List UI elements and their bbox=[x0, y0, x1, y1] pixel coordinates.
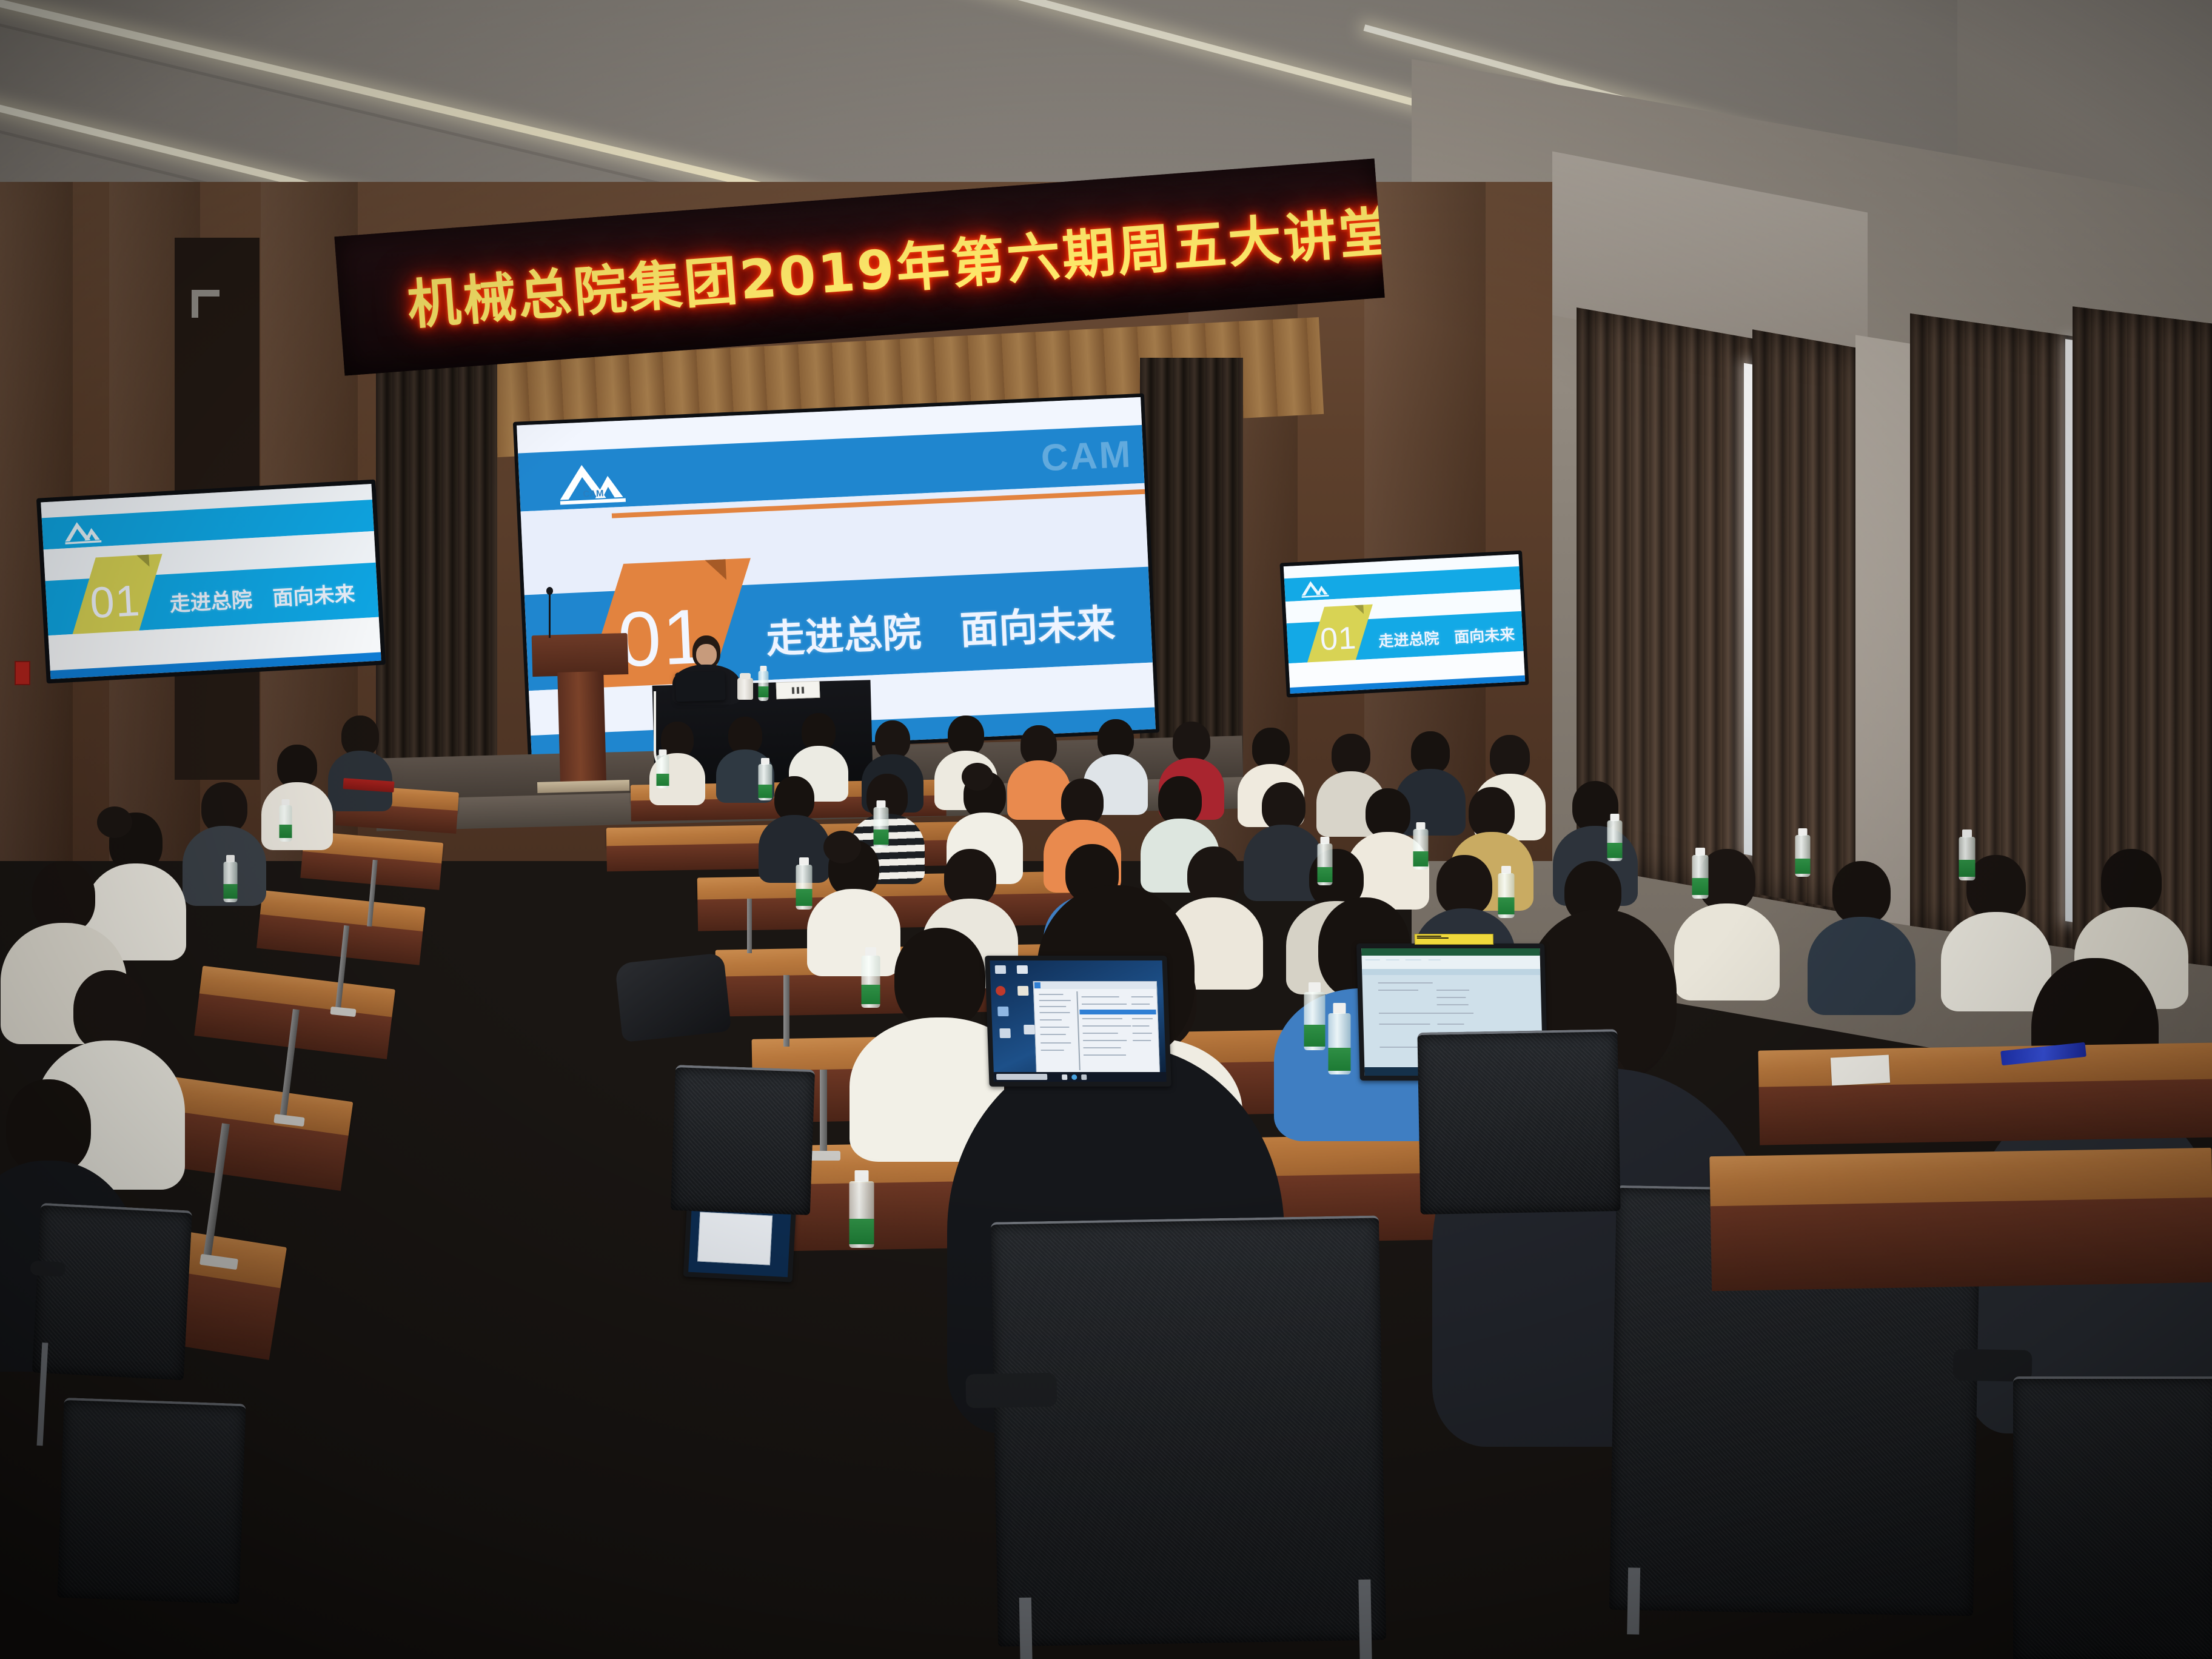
chair[interactable] bbox=[1417, 1029, 1620, 1215]
water-bottle bbox=[279, 799, 292, 842]
desk bbox=[1758, 1042, 2212, 1090]
water-bottle bbox=[1795, 828, 1811, 877]
paper-sheet bbox=[1831, 1055, 1890, 1086]
chair bbox=[57, 1398, 246, 1604]
water-bottle bbox=[1304, 982, 1326, 1050]
presenter-nameplate bbox=[776, 681, 820, 699]
cam-logo-icon bbox=[61, 517, 106, 546]
left-wall-monitor: 01 走进总院 面向未来 bbox=[41, 484, 381, 679]
thermos-cup bbox=[737, 678, 753, 700]
water-bottle bbox=[1413, 822, 1429, 870]
laptop-file-explorer[interactable] bbox=[985, 956, 1171, 1087]
slide-number: 01 bbox=[1319, 620, 1358, 658]
wall-pillar bbox=[1855, 335, 1914, 926]
water-bottle bbox=[873, 800, 889, 848]
chair bbox=[32, 1203, 192, 1381]
water-bottle bbox=[861, 947, 880, 1008]
laptop-security-sticker bbox=[1415, 934, 1494, 945]
water-bottle bbox=[1328, 1003, 1351, 1074]
audience-member bbox=[327, 716, 393, 806]
desk bbox=[260, 890, 425, 934]
water-bottle bbox=[1692, 848, 1709, 899]
fire-alarm-icon bbox=[15, 661, 30, 685]
water-bottle bbox=[1498, 866, 1515, 918]
water-bottle bbox=[223, 855, 238, 902]
wall-accent-panel bbox=[175, 238, 260, 492]
desk-leg bbox=[747, 899, 752, 953]
right-monitor-bezel: 01 走进总院 面向未来 bbox=[1279, 551, 1529, 698]
water-bottle bbox=[796, 857, 813, 910]
audience-member bbox=[1807, 861, 1916, 1014]
podium bbox=[532, 633, 632, 793]
water-bottle bbox=[1959, 829, 1976, 880]
water-bottle bbox=[1607, 814, 1623, 861]
water-bottle bbox=[849, 1170, 874, 1248]
lecture-hall-photo: 机械总院集团2019年第六期周五大讲堂 CAM CAM 01 走进总院 面向未来 bbox=[0, 0, 2212, 1659]
stage-curtain-left bbox=[376, 364, 497, 788]
chair[interactable] bbox=[671, 1065, 815, 1215]
right-wall-monitor: 01 走进总院 面向未来 bbox=[1284, 554, 1525, 694]
svg-text:CAM: CAM bbox=[583, 488, 604, 500]
desk-foreground bbox=[1709, 1148, 2212, 1211]
podium-microphone bbox=[549, 593, 551, 638]
water-bottle bbox=[758, 758, 773, 800]
wall-accent-panel-lower bbox=[175, 659, 260, 780]
cam-logo-icon: CAM bbox=[554, 457, 634, 508]
wall-bracket-icon bbox=[192, 290, 220, 318]
curtain-mid-panel bbox=[1752, 329, 1868, 914]
desk-leg bbox=[820, 1070, 827, 1159]
chair-foreground[interactable] bbox=[2013, 1376, 2212, 1659]
left-monitor-bezel: 01 走进总院 面向未来 bbox=[36, 480, 386, 684]
water-bottle bbox=[758, 666, 769, 701]
slide-watermark: CAM bbox=[1040, 433, 1133, 480]
water-bottle bbox=[656, 749, 669, 788]
backpack bbox=[615, 953, 732, 1042]
chair-foreground[interactable] bbox=[991, 1215, 1386, 1646]
cam-logo-icon bbox=[1299, 577, 1333, 599]
desk-leg bbox=[783, 975, 789, 1047]
slide-number: 01 bbox=[89, 576, 141, 629]
water-bottle bbox=[1317, 837, 1333, 885]
audience-member bbox=[261, 745, 333, 848]
